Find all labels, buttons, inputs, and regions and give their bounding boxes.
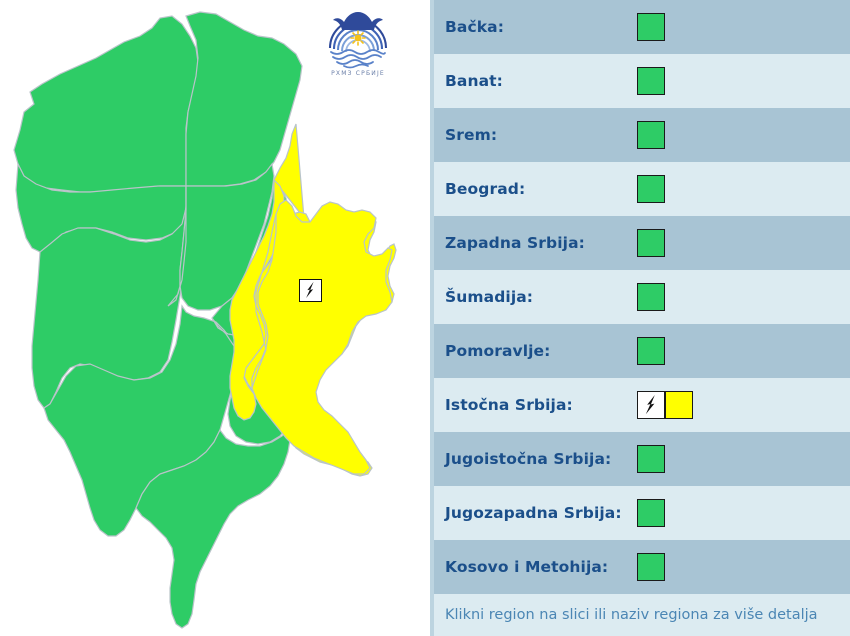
region-label: Istočna Srbija: <box>445 396 637 414</box>
region-row-istocna-srbija[interactable]: Istočna Srbija: <box>434 378 850 432</box>
sun-icon <box>351 31 365 45</box>
region-row-kosovo-i-metohija[interactable]: Kosovo i Metohija: <box>434 540 850 594</box>
region-row-pomoravlje[interactable]: Pomoravlje: <box>434 324 850 378</box>
region-badges <box>637 175 665 203</box>
region-row-jugoistocna-srbija[interactable]: Jugoistočna Srbija: <box>434 432 850 486</box>
region-badges <box>637 499 665 527</box>
region-label: Jugoistočna Srbija: <box>445 450 637 468</box>
status-badge-green[interactable] <box>637 283 665 311</box>
map-panel[interactable]: РХМЗ СРБИЈЕ <box>0 0 430 636</box>
region-row-sumadija[interactable]: Šumadija: <box>434 270 850 324</box>
region-label: Bačka: <box>445 18 637 36</box>
region-row-beograd[interactable]: Beograd: <box>434 162 850 216</box>
region-badges <box>637 67 665 95</box>
region-label: Zapadna Srbija: <box>445 234 637 252</box>
region-label: Beograd: <box>445 180 637 198</box>
region-badges <box>637 553 665 581</box>
logo-caption: РХМЗ СРБИЈЕ <box>331 70 385 77</box>
region-row-backa[interactable]: Bačka: <box>434 0 850 54</box>
thunderstorm-icon <box>300 280 321 301</box>
region-badges <box>637 445 665 473</box>
status-badge-yellow[interactable] <box>665 391 693 419</box>
status-badge-green[interactable] <box>637 175 665 203</box>
warning-map-page: РХМЗ СРБИЈЕ Bačka: Banat: Srem: <box>0 0 850 636</box>
region-label: Pomoravlje: <box>445 342 637 360</box>
region-badges <box>637 121 665 149</box>
region-label: Banat: <box>445 72 637 90</box>
region-label: Jugozapadna Srbija: <box>445 504 637 522</box>
status-badge-green[interactable] <box>637 67 665 95</box>
legend-footer: Klikni region na slici ili naziv regiona… <box>434 594 850 636</box>
region-legend-panel: Bačka: Banat: Srem: Beograd: Zapadna Srb <box>430 0 850 636</box>
region-row-zapadna-srbija[interactable]: Zapadna Srbija: <box>434 216 850 270</box>
region-badges <box>637 13 665 41</box>
status-badge-green[interactable] <box>637 229 665 257</box>
rhmz-logo: РХМЗ СРБИЈЕ <box>322 4 394 78</box>
thunderstorm-icon <box>639 393 663 417</box>
serbia-region-map[interactable] <box>0 0 430 636</box>
region-label: Šumadija: <box>445 288 637 306</box>
status-badge-green[interactable] <box>637 121 665 149</box>
status-badge-green[interactable] <box>637 337 665 365</box>
status-badge-green[interactable] <box>637 445 665 473</box>
map-region-backa[interactable] <box>14 16 198 192</box>
status-badge-green[interactable] <box>637 553 665 581</box>
rhmz-logo-icon: РХМЗ СРБИЈЕ <box>322 4 394 78</box>
region-badges <box>637 391 693 419</box>
legend-hint-text: Klikni region na slici ili naziv regiona… <box>445 607 818 623</box>
region-badges <box>637 229 665 257</box>
map-thunderstorm-icon[interactable] <box>299 279 322 302</box>
status-badge-thunderstorm[interactable] <box>637 391 665 419</box>
status-badge-green[interactable] <box>637 13 665 41</box>
region-label: Kosovo i Metohija: <box>445 558 637 576</box>
region-label: Srem: <box>445 126 637 144</box>
status-badge-green[interactable] <box>637 499 665 527</box>
region-badges <box>637 337 665 365</box>
region-row-banat[interactable]: Banat: <box>434 54 850 108</box>
region-row-jugozapadna-srbija[interactable]: Jugozapadna Srbija: <box>434 486 850 540</box>
region-row-srem[interactable]: Srem: <box>434 108 850 162</box>
region-badges <box>637 283 665 311</box>
